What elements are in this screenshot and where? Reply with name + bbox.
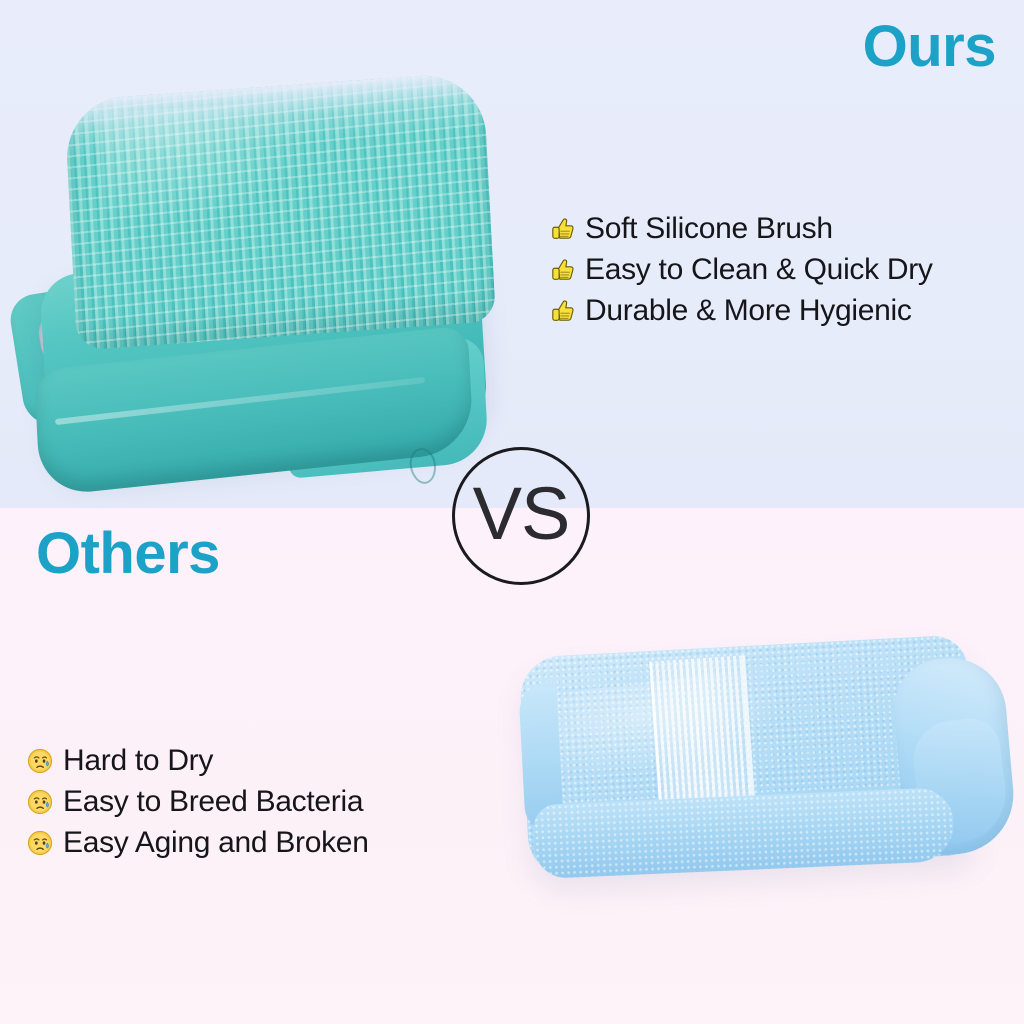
ours-heading: Ours	[863, 18, 996, 76]
list-item: Easy to Clean & Quick Dry	[548, 249, 1018, 290]
list-item-label: Easy Aging and Broken	[63, 828, 369, 858]
crying-face-icon	[26, 788, 54, 816]
crying-face-icon	[26, 747, 54, 775]
vs-badge: VS	[452, 447, 590, 585]
list-item-label: Easy to Breed Bacteria	[63, 787, 363, 817]
thumbs-up-icon	[548, 297, 576, 325]
list-item-label: Durable & More Hygienic	[585, 296, 912, 326]
list-item-label: Soft Silicone Brush	[585, 214, 833, 244]
list-item: Durable & More Hygienic	[548, 290, 1018, 331]
list-item: Easy Aging and Broken	[26, 822, 486, 863]
towel-image	[506, 624, 1018, 914]
comparison-infographic: Ours Soft Silicone Brush	[0, 0, 1024, 1024]
silicone-brush-image	[14, 86, 514, 486]
others-drawback-list: Hard to Dry Easy to Breed Bacteria	[26, 740, 486, 863]
brush-bristle-field	[64, 72, 496, 351]
thumbs-up-icon	[548, 215, 576, 243]
list-item-label: Hard to Dry	[63, 746, 213, 776]
list-item-label: Easy to Clean & Quick Dry	[585, 255, 933, 285]
thumbs-up-icon	[548, 256, 576, 284]
list-item: Easy to Breed Bacteria	[26, 781, 486, 822]
others-heading: Others	[36, 525, 220, 583]
vs-label: VS	[473, 477, 570, 551]
list-item: Hard to Dry	[26, 740, 486, 781]
list-item: Soft Silicone Brush	[548, 208, 1018, 249]
ours-feature-list: Soft Silicone Brush Easy to Clean & Quic…	[548, 208, 1018, 331]
crying-face-icon	[26, 829, 54, 857]
